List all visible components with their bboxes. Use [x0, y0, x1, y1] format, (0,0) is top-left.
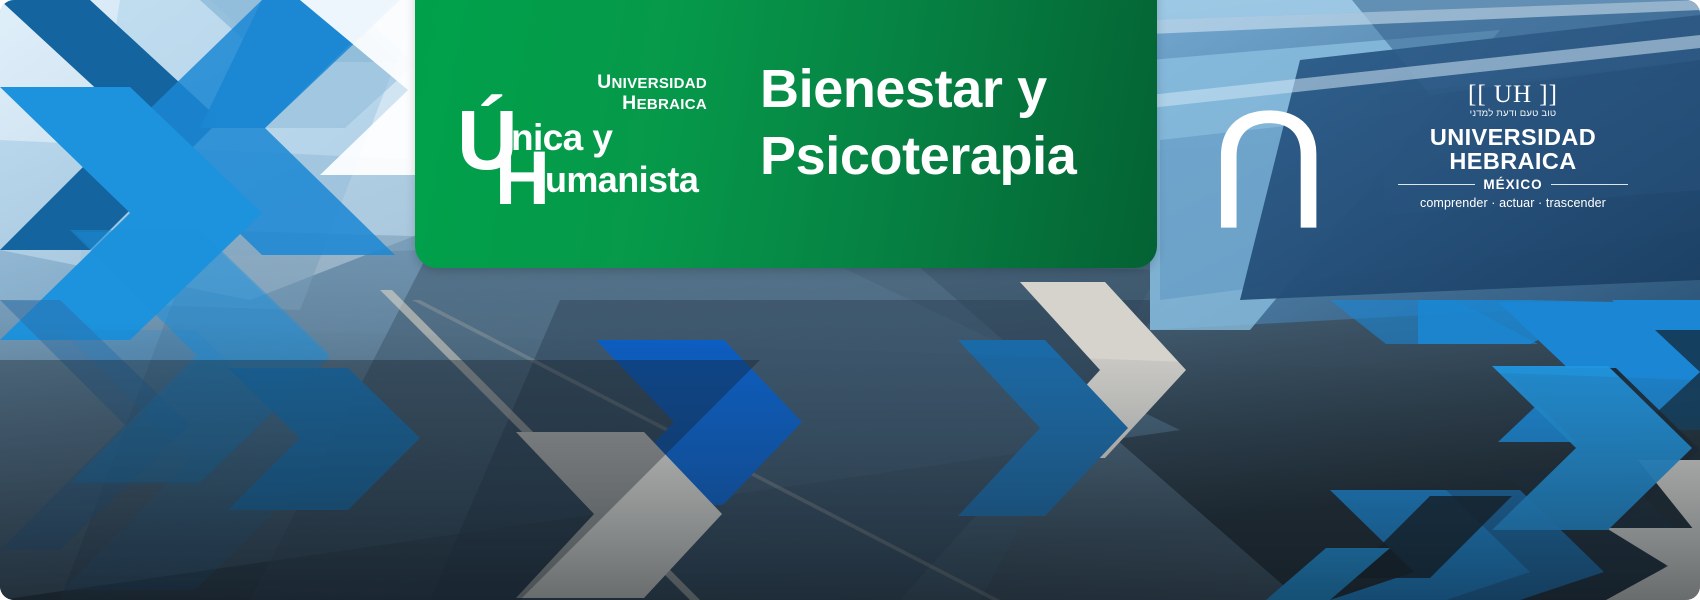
unica-logo-big-h: H: [495, 148, 548, 210]
unica-logo-umanista: umanista: [545, 162, 698, 198]
page-title-line-2: Psicoterapia: [760, 123, 1140, 190]
seal-rule-left: [1398, 184, 1475, 185]
seal-tagline: comprender · actuar · trascender: [1398, 196, 1628, 210]
unica-logo-hebraica-cap: H: [622, 92, 636, 114]
university-seal: [[ UH ]] טוב טעם ודעת למדני UNIVERSIDAD …: [1398, 82, 1628, 210]
seal-country-row: MÉXICO: [1398, 177, 1628, 192]
page-title: Bienestar y Psicoterapia: [760, 56, 1140, 190]
unica-logo-hebraica-rest: EBRAICA: [637, 96, 707, 113]
seal-rule-right: [1551, 184, 1628, 185]
seal-emblem-icon: [[ UH ]]: [1398, 82, 1628, 107]
page-title-line-1: Bienestar y: [760, 56, 1140, 123]
watermark-letter-u: U: [1208, 86, 1329, 254]
seal-name-line-1: UNIVERSIDAD: [1398, 125, 1628, 149]
green-title-panel: UNIVERSIDAD HEBRAICA Ú nica y H umanista…: [415, 0, 1157, 268]
unica-logo-universidad-rest: NIVERSIDAD: [611, 75, 707, 92]
unica-humanista-logo: UNIVERSIDAD HEBRAICA Ú nica y H umanista: [455, 72, 735, 207]
banner-root: U UNIVERSIDAD HEBRAICA Ú nica y H umanis…: [0, 0, 1700, 600]
seal-country-label: MÉXICO: [1483, 177, 1542, 192]
seal-hebrew-motto: טוב טעם ודעת למדני: [1398, 109, 1628, 119]
unica-logo-universidad-cap: U: [597, 71, 611, 93]
seal-name-line-2: HEBRAICA: [1398, 149, 1628, 173]
